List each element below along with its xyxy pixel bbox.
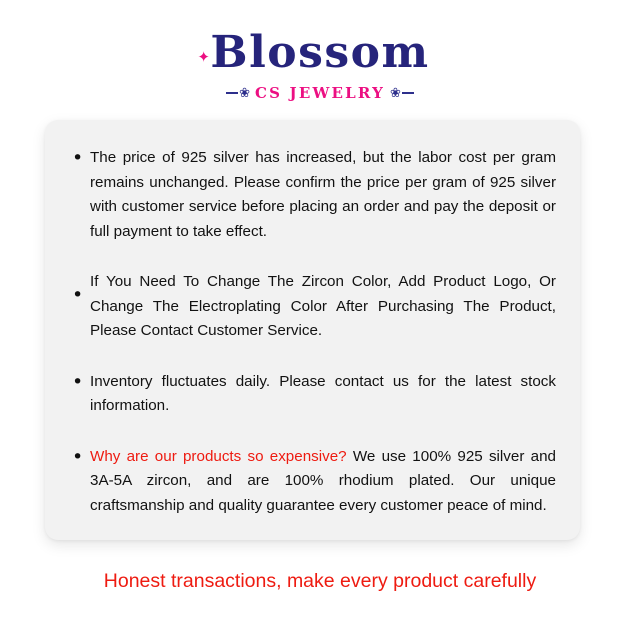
brand-name: Blossom [210, 27, 429, 78]
sparkle-icon: ✦ [197, 50, 211, 64]
bullet-icon: • [69, 445, 90, 469]
notice-highlight: Why are our products so expensive? [90, 448, 347, 465]
brand-header: ✦ Blossom ❀ CS JEWELRY ❀ [0, 0, 640, 102]
ornament-dash-right-icon [402, 92, 414, 94]
bullet-icon: • [69, 146, 90, 170]
list-item: • Why are our products so expensive? We … [69, 445, 556, 519]
notice-text: The price of 925 silver has increased, b… [90, 146, 556, 244]
snowflake-right-glyph: ❀ [389, 87, 402, 100]
notice-text-highlighted: Why are our products so expensive? We us… [90, 445, 556, 519]
ornament-snowflake-right-icon: ❀ [389, 87, 414, 100]
bullet-icon: • [69, 283, 90, 307]
notice-card: • The price of 925 silver has increased,… [45, 120, 580, 540]
notice-text: If You Need To Change The Zircon Color, … [90, 270, 556, 344]
brand-wordmark: ✦ Blossom [210, 30, 429, 76]
list-item: • If You Need To Change The Zircon Color… [69, 270, 556, 344]
notice-list: • The price of 925 silver has increased,… [69, 146, 556, 518]
bullet-icon: • [69, 370, 90, 394]
footer-tagline: Honest transactions, make every product … [0, 568, 640, 594]
snowflake-left-glyph: ❀ [238, 87, 251, 100]
notice-text: Inventory fluctuates daily. Please conta… [90, 370, 556, 419]
brand-subtitle: CS JEWELRY [255, 84, 385, 102]
ornament-dash-left-icon [226, 92, 238, 94]
list-item: • The price of 925 silver has increased,… [69, 146, 556, 244]
ornament-snowflake-left-icon: ❀ [226, 87, 251, 100]
list-item: • Inventory fluctuates daily. Please con… [69, 370, 556, 419]
brand-subtitle-row: ❀ CS JEWELRY ❀ [0, 84, 640, 102]
